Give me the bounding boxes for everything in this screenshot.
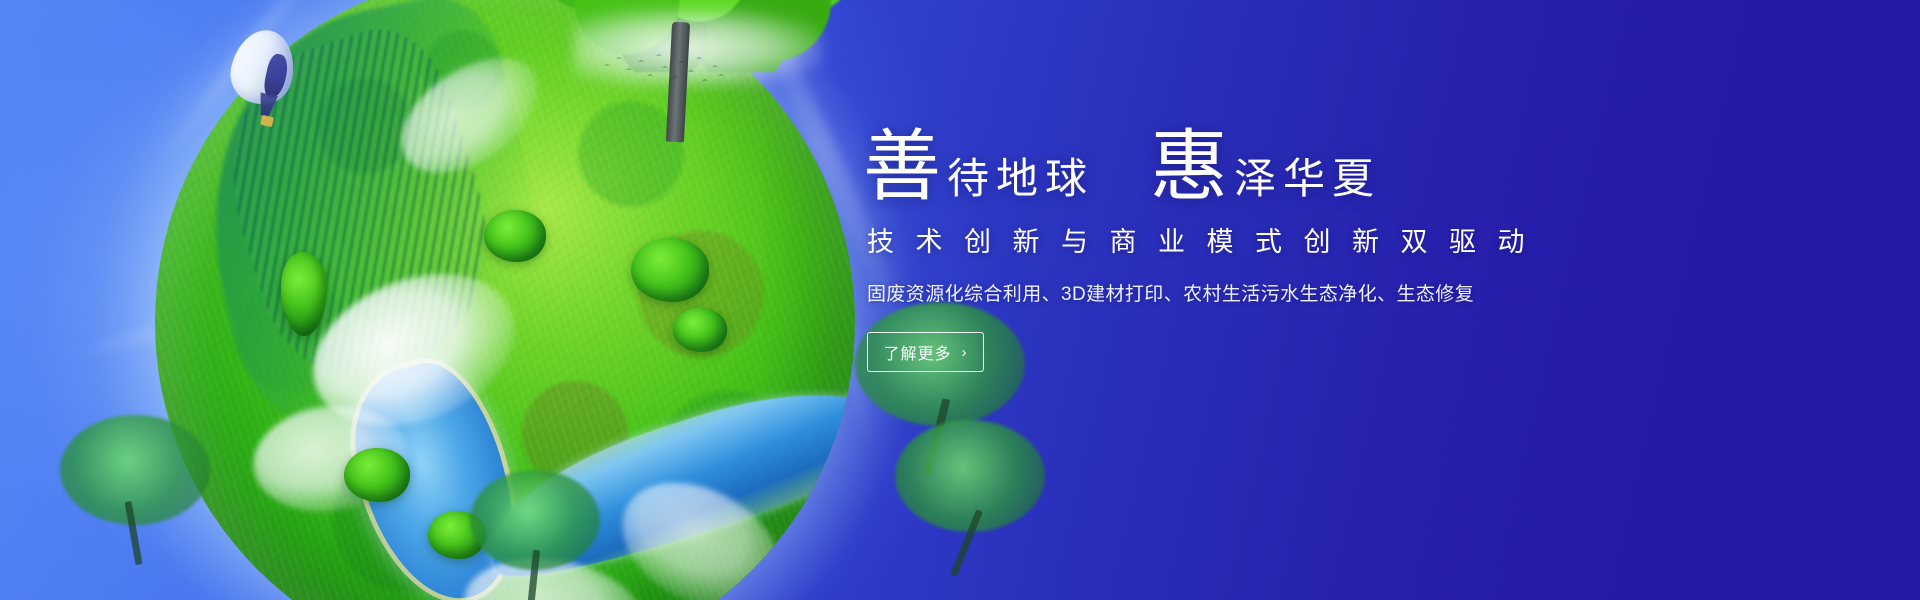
hero-subtitle: 技 术 创 新 与 商 业 模 式 创 新 双 驱 动	[867, 220, 1763, 259]
limb-tree	[470, 470, 600, 600]
headline-text-secondary-2: 泽华夏	[1234, 159, 1381, 201]
limb-tree	[60, 415, 210, 565]
limb-tree	[895, 420, 1045, 580]
tree-clump	[484, 210, 546, 262]
headline-char-primary-1: 善	[863, 128, 941, 206]
hero-banner: 善 待地球 惠 泽华夏 技 术 创 新 与 商 业 模 式 创 新 双 驱 动 …	[0, 0, 1920, 600]
learn-more-button[interactable]: 了解更多 ›	[867, 332, 984, 372]
tree-crown	[895, 420, 1045, 532]
chevron-right-icon: ›	[962, 345, 968, 360]
tree-clump	[673, 308, 727, 352]
tree-clump	[631, 238, 709, 302]
headline-char-primary-2: 惠	[1150, 128, 1228, 206]
page-title: 善 待地球 惠 泽华夏	[863, 128, 1763, 206]
tree-crown	[60, 415, 210, 525]
headline-text-secondary-1: 待地球	[947, 159, 1094, 201]
bird-flock-icon	[598, 50, 728, 92]
hero-copy-block: 善 待地球 惠 泽华夏 技 术 创 新 与 商 业 模 式 创 新 双 驱 动 …	[863, 128, 1763, 372]
learn-more-label: 了解更多	[883, 340, 951, 364]
balloon-basket	[260, 115, 274, 127]
hot-air-balloon-icon	[232, 30, 302, 135]
hero-description: 固废资源化综合利用、3D建材打印、农村生活污水生态净化、生态修复	[867, 279, 1763, 306]
tree-clump	[344, 448, 410, 502]
